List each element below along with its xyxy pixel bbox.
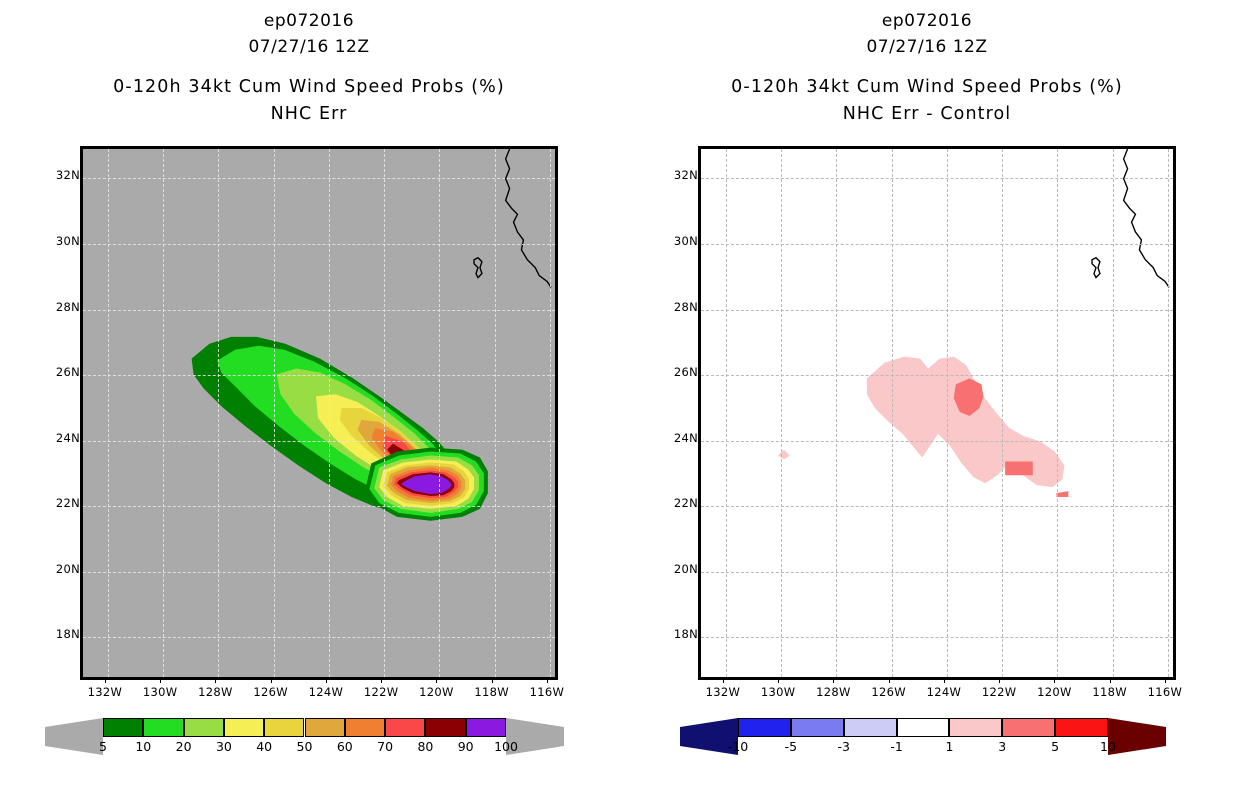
gridline-horizontal-28N	[83, 310, 555, 311]
y-axis-label-24N: 24N	[36, 431, 80, 445]
y-axis-label-32N: 32N	[36, 168, 80, 182]
diff-band-1-3	[867, 357, 1064, 488]
colorbar-segment-6[interactable]	[1055, 718, 1108, 737]
map-plot-area-nhc-err[interactable]	[80, 146, 558, 680]
gridline-horizontal-32N	[83, 178, 555, 179]
product-title-label-right: 0-120h 34kt Cum Wind Speed Probs (%)	[618, 74, 1236, 101]
product-variant-label: NHC Err	[0, 101, 618, 128]
colorbar-probability[interactable]: 5102030405060708090100	[0, 714, 618, 774]
gridline-horizontal-28N	[701, 310, 1173, 311]
right-y-axis: 32N30N28N26N24N22N20N18N	[644, 146, 698, 680]
colorbar-over-arrow	[1108, 718, 1166, 755]
colorbar-segment-8[interactable]	[425, 718, 465, 737]
gridline-vertical-120W	[1057, 149, 1058, 677]
gridline-vertical-126W	[274, 149, 275, 677]
colorbar-segment-0[interactable]	[103, 718, 143, 737]
x-axis-label-118W: 118W	[474, 685, 509, 699]
colorbar-segment-1[interactable]	[791, 718, 844, 737]
x-axis-label-132W: 132W	[88, 685, 123, 699]
y-axis-label-22N: 22N	[654, 496, 698, 510]
gridline-vertical-124W	[329, 149, 330, 677]
colorbar-segment-4[interactable]	[949, 718, 1002, 737]
diff-speck-west	[778, 450, 790, 460]
colorbar-right-row: -10-5-3-113510	[618, 714, 1236, 740]
left-x-axis: 132W130W128W126W124W122W120W118W116W	[80, 680, 558, 706]
colorbar-tick-label-80: 80	[417, 739, 433, 754]
gridline-vertical-120W	[439, 149, 440, 677]
colorbar-tick-label-90: 90	[458, 739, 474, 754]
colorbar-segment-3[interactable]	[897, 718, 950, 737]
right-map-graphics	[701, 149, 1173, 677]
y-axis-label-20N: 20N	[36, 562, 80, 576]
gridline-horizontal-24N	[83, 441, 555, 442]
y-axis-label-22N: 22N	[36, 496, 80, 510]
coastline-path-right	[1124, 149, 1169, 287]
guadalupe-island-path	[474, 258, 482, 278]
colorbar-tick-label-1: 1	[945, 739, 953, 754]
colorbar-under-arrow	[45, 718, 103, 755]
x-axis-label-116W: 116W	[530, 685, 565, 699]
y-axis-label-26N: 26N	[654, 365, 698, 379]
gridline-vertical-132W	[108, 149, 109, 677]
gridline-vertical-118W	[1113, 149, 1114, 677]
colorbar-segment-1[interactable]	[143, 718, 183, 737]
colorbar-segment-7[interactable]	[385, 718, 425, 737]
diff-band-3-5-lower	[1005, 461, 1033, 475]
x-axis-label-116W: 116W	[1148, 685, 1183, 699]
storm-id-label: ep072016	[0, 8, 618, 34]
colorbar-segment-9[interactable]	[466, 718, 506, 737]
left-y-axis: 32N30N28N26N24N22N20N18N	[26, 146, 80, 680]
colorbar-tick-label-5: 5	[1051, 739, 1059, 754]
gridline-horizontal-18N	[83, 637, 555, 638]
gridline-vertical-132W	[726, 149, 727, 677]
colorbar-tick-label-neg1: -1	[890, 739, 902, 754]
y-axis-label-18N: 18N	[36, 627, 80, 641]
gridline-vertical-126W	[892, 149, 893, 677]
x-axis-label-124W: 124W	[927, 685, 962, 699]
forecast-datetime-label-right: 07/27/16 12Z	[618, 34, 1236, 60]
colorbar-tick-label-5: 5	[99, 739, 107, 754]
colorbar-segment-2[interactable]	[184, 718, 224, 737]
gridline-vertical-118W	[495, 149, 496, 677]
x-axis-label-130W: 130W	[761, 685, 796, 699]
y-axis-label-24N: 24N	[654, 431, 698, 445]
guadalupe-island-path-right	[1092, 258, 1100, 278]
y-axis-label-26N: 26N	[36, 365, 80, 379]
colorbar-segment-3[interactable]	[224, 718, 264, 737]
gridline-vertical-116W	[1168, 149, 1169, 677]
left-panel-titles: ep072016 07/27/16 12Z 0-120h 34kt Cum Wi…	[0, 8, 618, 128]
colorbar-tick-label-10: 10	[135, 739, 151, 754]
y-axis-label-32N: 32N	[654, 168, 698, 182]
colorbar-tick-label-40: 40	[256, 739, 272, 754]
x-axis-label-128W: 128W	[198, 685, 233, 699]
gridline-horizontal-20N	[83, 572, 555, 573]
forecast-datetime-label: 07/27/16 12Z	[0, 34, 618, 60]
x-axis-label-120W: 120W	[419, 685, 454, 699]
x-axis-label-122W: 122W	[982, 685, 1017, 699]
colorbar-segment-6[interactable]	[345, 718, 385, 737]
colorbar-tick-label-3: 3	[998, 739, 1006, 754]
product-variant-label-right: NHC Err - Control	[618, 101, 1236, 128]
coastline-path	[506, 149, 551, 287]
x-axis-label-122W: 122W	[364, 685, 399, 699]
colorbar-segment-5[interactable]	[1002, 718, 1055, 737]
colorbar-tick-label-50: 50	[297, 739, 313, 754]
gridline-vertical-130W	[163, 149, 164, 677]
y-axis-label-28N: 28N	[654, 300, 698, 314]
colorbar-difference[interactable]: -10-5-3-113510	[618, 714, 1236, 774]
gridline-horizontal-32N	[701, 178, 1173, 179]
x-axis-label-132W: 132W	[706, 685, 741, 699]
x-axis-label-130W: 130W	[143, 685, 178, 699]
y-axis-label-20N: 20N	[654, 562, 698, 576]
x-axis-label-124W: 124W	[309, 685, 344, 699]
difference-contours	[778, 357, 1068, 497]
right-x-axis: 132W130W128W126W124W122W120W118W116W	[698, 680, 1176, 706]
gridline-vertical-128W	[218, 149, 219, 677]
colorbar-tick-label-30: 30	[216, 739, 232, 754]
gridline-vertical-122W	[1002, 149, 1003, 677]
left-map-graphics	[83, 149, 555, 677]
colorbar-left-row: 5102030405060708090100	[0, 714, 618, 740]
colorbar-tick-label-100: 100	[494, 739, 518, 754]
gridline-horizontal-20N	[701, 572, 1173, 573]
gridline-vertical-124W	[947, 149, 948, 677]
colorbar-tick-label-neg5: -5	[785, 739, 797, 754]
y-axis-label-18N: 18N	[654, 627, 698, 641]
gridline-horizontal-18N	[701, 637, 1173, 638]
right-panel-titles: ep072016 07/27/16 12Z 0-120h 34kt Cum Wi…	[618, 8, 1236, 128]
storm-id-label-right: ep072016	[618, 8, 1236, 34]
y-axis-label-30N: 30N	[36, 234, 80, 248]
gridline-vertical-116W	[550, 149, 551, 677]
colorbar-segment-2[interactable]	[844, 718, 897, 737]
colorbar-tick-label-70: 70	[377, 739, 393, 754]
panel-nhc-err-minus-control: ep072016 07/27/16 12Z 0-120h 34kt Cum Wi…	[618, 0, 1236, 800]
gridline-horizontal-30N	[701, 244, 1173, 245]
x-axis-label-128W: 128W	[816, 685, 851, 699]
gridline-horizontal-26N	[83, 375, 555, 376]
product-title-label: 0-120h 34kt Cum Wind Speed Probs (%)	[0, 74, 618, 101]
y-axis-label-30N: 30N	[654, 234, 698, 248]
colorbar-tick-label-neg10: -10	[728, 739, 748, 754]
x-axis-label-120W: 120W	[1037, 685, 1072, 699]
map-plot-area-difference[interactable]	[698, 146, 1176, 680]
gridline-horizontal-30N	[83, 244, 555, 245]
gridline-horizontal-26N	[701, 375, 1173, 376]
colorbar-segment-0[interactable]	[738, 718, 791, 737]
x-axis-label-126W: 126W	[871, 685, 906, 699]
colorbar-tick-label-20: 20	[176, 739, 192, 754]
colorbar-tick-label-neg3: -3	[837, 739, 849, 754]
colorbar-segment-4[interactable]	[264, 718, 304, 737]
colorbar-segment-5[interactable]	[305, 718, 345, 737]
gridline-vertical-128W	[836, 149, 837, 677]
gridline-vertical-122W	[384, 149, 385, 677]
x-axis-label-118W: 118W	[1092, 685, 1127, 699]
gridline-horizontal-22N	[83, 506, 555, 507]
gridline-horizontal-24N	[701, 441, 1173, 442]
gridline-horizontal-22N	[701, 506, 1173, 507]
panel-nhc-err: ep072016 07/27/16 12Z 0-120h 34kt Cum Wi…	[0, 0, 618, 800]
x-axis-label-126W: 126W	[253, 685, 288, 699]
gridline-vertical-130W	[781, 149, 782, 677]
y-axis-label-28N: 28N	[36, 300, 80, 314]
colorbar-tick-label-60: 60	[337, 739, 353, 754]
colorbar-tick-label-10: 10	[1100, 739, 1116, 754]
